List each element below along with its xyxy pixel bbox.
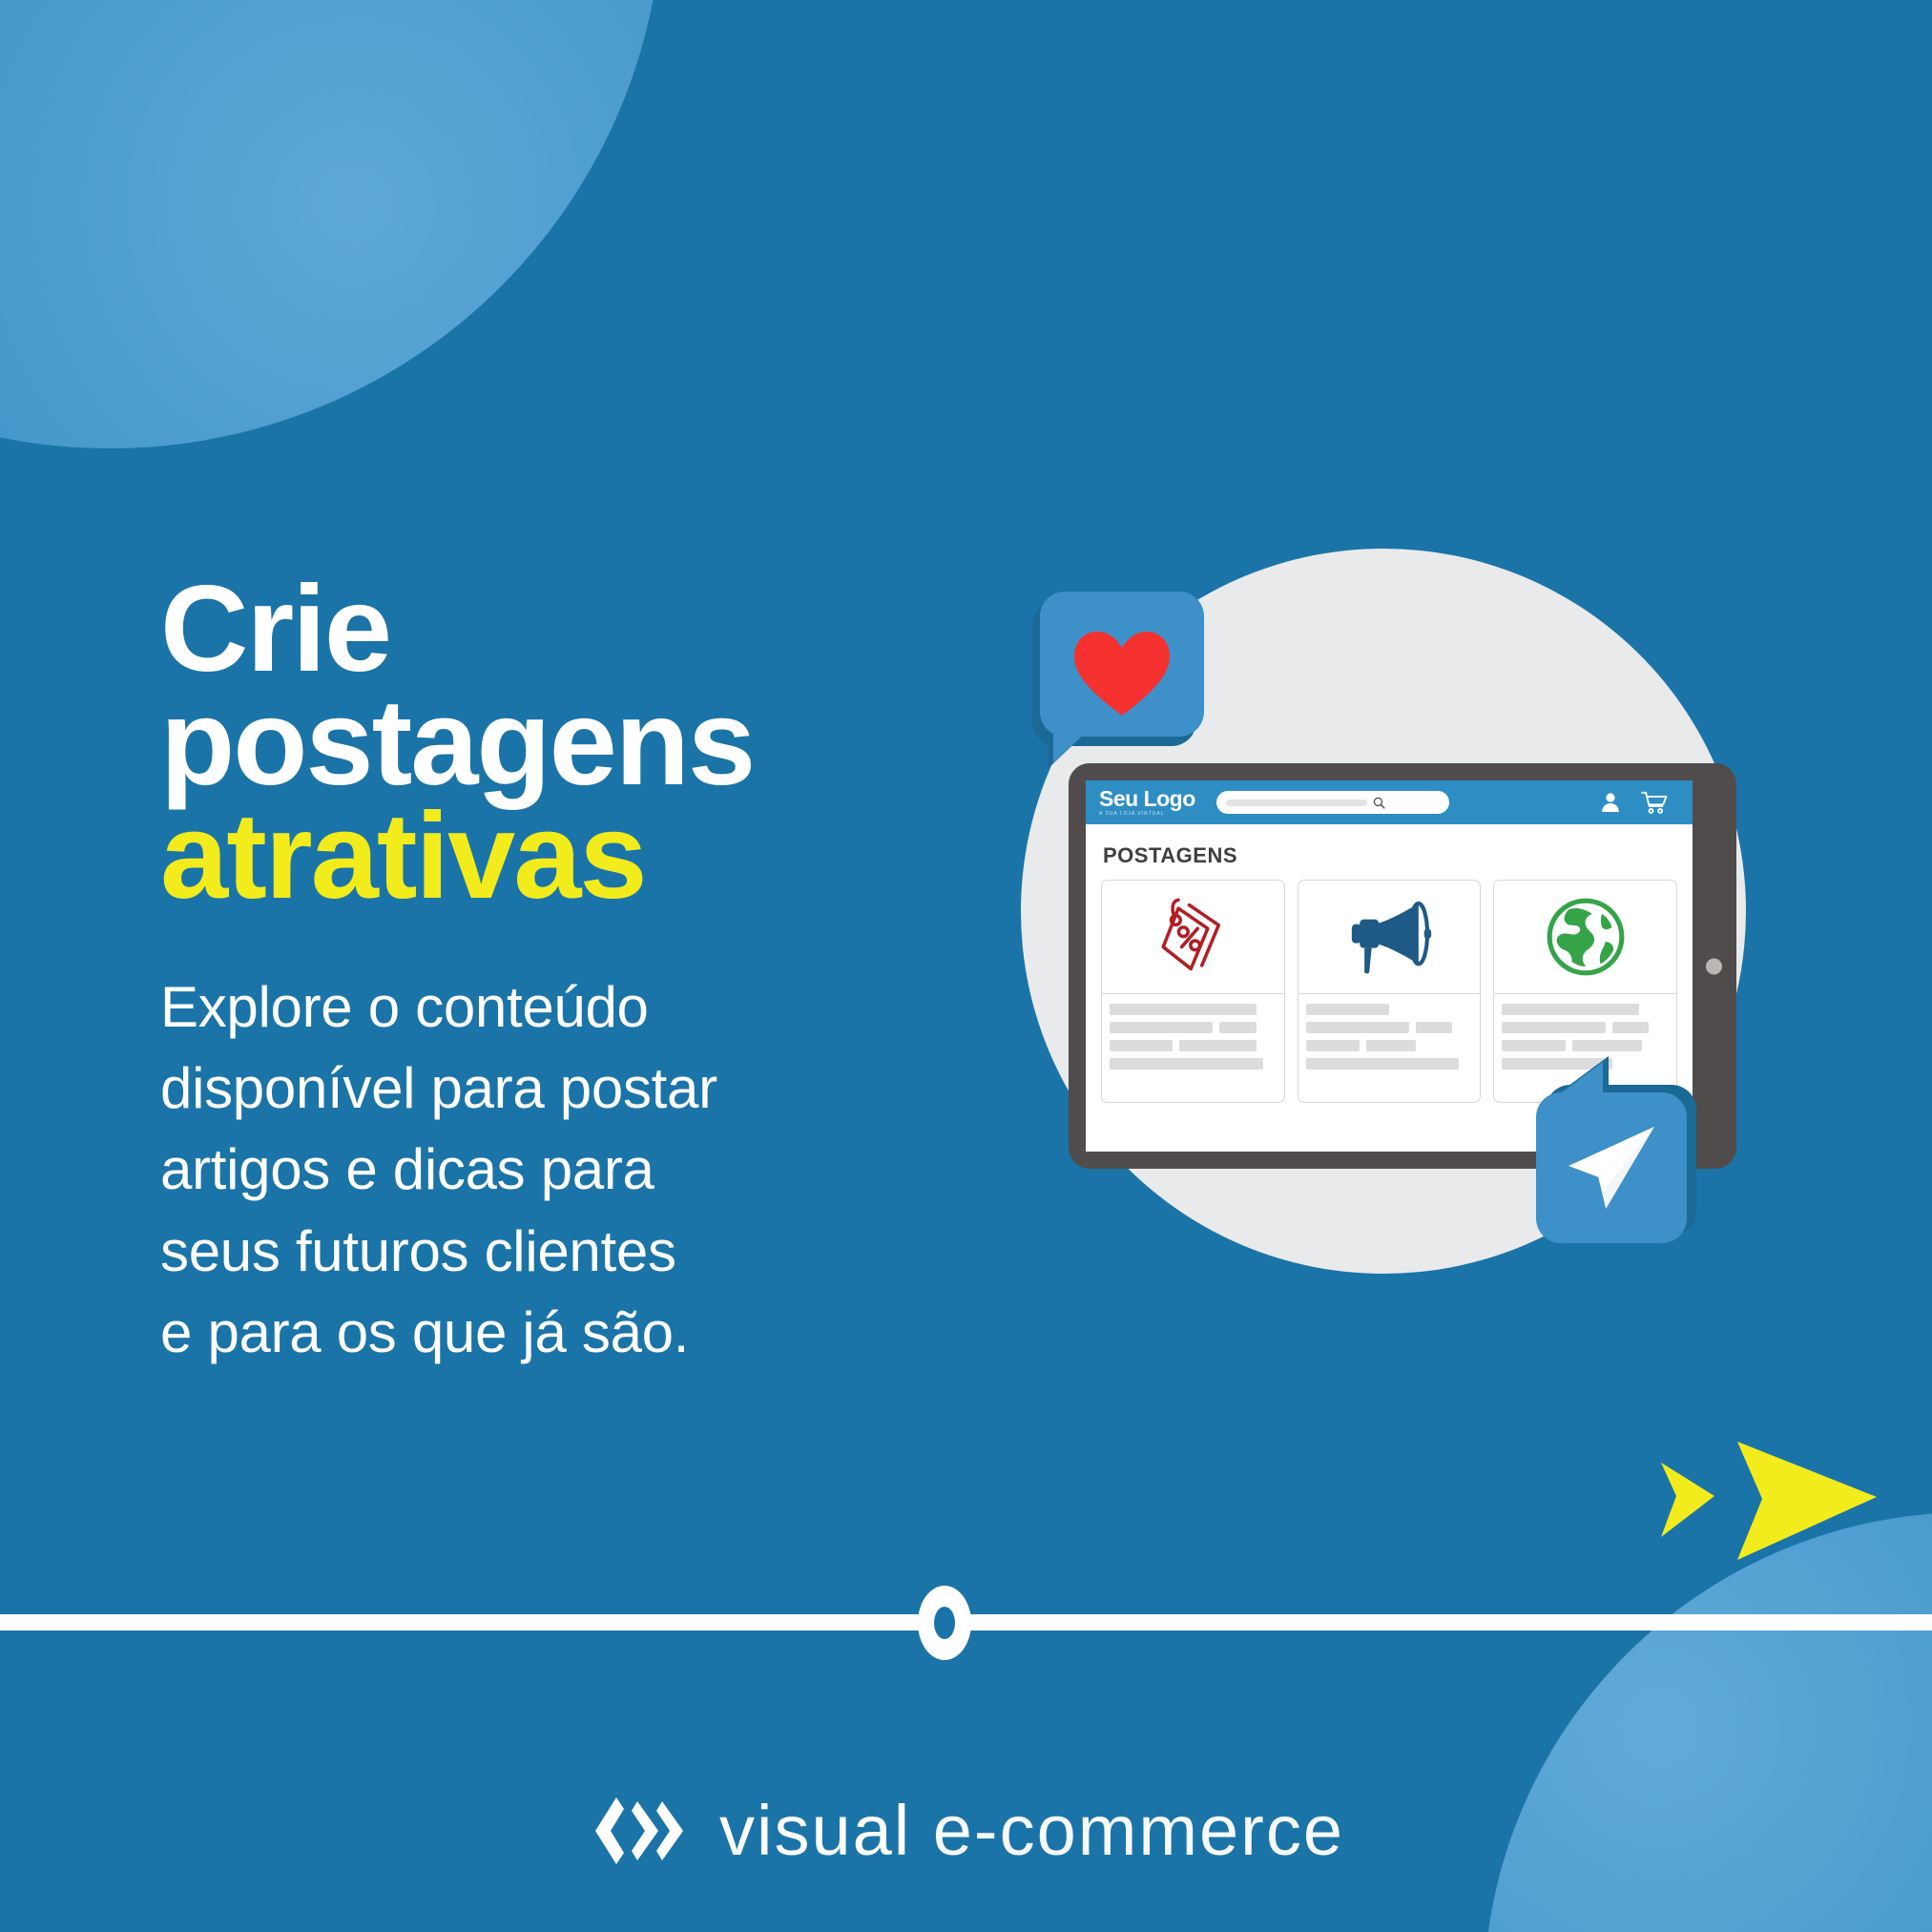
globe-icon [1545,896,1627,978]
chevron-arrow-large [1737,1442,1877,1560]
placeholder-line [1306,1004,1389,1015]
divider-node-marker [918,1586,971,1660]
placeholder-line [1502,1040,1565,1051]
placeholder-line [1502,1022,1605,1033]
illustration-group: Seu Logo A SUA LOJA VIRTUAL [997,530,1779,1321]
headline-accent-line: atrativas [160,800,943,913]
body-paragraph: Explore o conteúdo disponível para posta… [160,966,943,1373]
arrow-group [1655,1436,1889,1565]
placeholder-line-row [1306,1040,1473,1051]
background-circle-bottom-right [1484,1512,1932,1932]
header-icon-group [1599,791,1679,815]
megaphone-icon [1345,899,1433,975]
shopping-cart-icon[interactable] [1641,791,1668,815]
placeholder-line [1110,1058,1263,1070]
post-card-placeholder-lines [1102,994,1284,1086]
heart-icon [1072,630,1172,717]
body-line-5: e para os que já são. [160,1292,943,1373]
search-placeholder-bar [1226,800,1367,806]
placeholder-line-row [1110,1022,1277,1033]
brand-name-secondary: e-commerce [933,1791,1344,1870]
placeholder-line [1502,1004,1638,1015]
placeholder-line [1612,1022,1649,1033]
price-tag-percent-icon [1151,895,1235,979]
body-line-1: Explore o conteúdo [160,966,943,1048]
placeholder-line [1110,1022,1213,1033]
search-icon [1373,797,1385,809]
body-line-3: artigos e dicas para [160,1129,943,1210]
site-header: Seu Logo A SUA LOJA VIRTUAL [1086,780,1693,824]
placeholder-line-row [1110,1040,1277,1051]
placeholder-line [1366,1040,1416,1051]
user-icon[interactable] [1599,791,1622,814]
placeholder-line [1306,1040,1360,1051]
paper-plane-icon [1565,1123,1658,1213]
brand-footer: visual e-commerce [0,1794,1932,1868]
site-logo-text: Seu Logo [1099,786,1195,811]
text-column: Crie postagens atrativas Explore o conte… [160,572,943,1373]
headline: Crie postagens atrativas [160,572,943,913]
post-card-media [1102,881,1284,994]
code-brackets-icon [588,1794,695,1868]
plane-badge-tail [1559,1062,1603,1094]
placeholder-line-row [1502,1040,1669,1051]
placeholder-line [1219,1022,1256,1033]
paper-plane-badge [1536,1092,1687,1243]
placeholder-line [1572,1040,1642,1051]
chevron-arrows [1655,1436,1889,1565]
placeholder-line [1110,1004,1257,1015]
placeholder-line [1179,1040,1256,1051]
placeholder-line [1416,1022,1452,1033]
placeholder-line-row [1502,1022,1669,1033]
tablet-home-button[interactable] [1706,958,1722,974]
post-card-placeholder-lines [1298,994,1481,1086]
post-card[interactable] [1298,880,1482,1103]
brand-name-primary: visual [719,1791,911,1870]
headline-line-1: Crie [160,572,943,686]
chevron-arrow-small [1661,1463,1714,1537]
site-logo-tagline: A SUA LOJA VIRTUAL [1099,812,1195,817]
social-post-canvas: Crie postagens atrativas Explore o conte… [0,0,1932,1932]
placeholder-line [1110,1040,1173,1051]
body-line-2: disponível para postar [160,1048,943,1129]
site-logo[interactable]: Seu Logo A SUA LOJA VIRTUAL [1099,788,1195,817]
brand-wordmark: visual e-commerce [719,1796,1344,1866]
search-input[interactable] [1216,791,1449,814]
background-circle-top-left [0,0,663,448]
post-card-media [1494,881,1676,994]
post-card[interactable] [1101,880,1285,1103]
post-card-media [1298,881,1481,994]
section-title: POSTAGENS [1103,843,1677,868]
placeholder-line [1306,1058,1460,1070]
placeholder-line-row [1306,1022,1473,1033]
heart-bubble [1040,592,1204,737]
placeholder-line [1306,1022,1409,1033]
body-line-4: seus futuros clientes [160,1211,943,1292]
headline-line-2: postagens [160,686,943,800]
